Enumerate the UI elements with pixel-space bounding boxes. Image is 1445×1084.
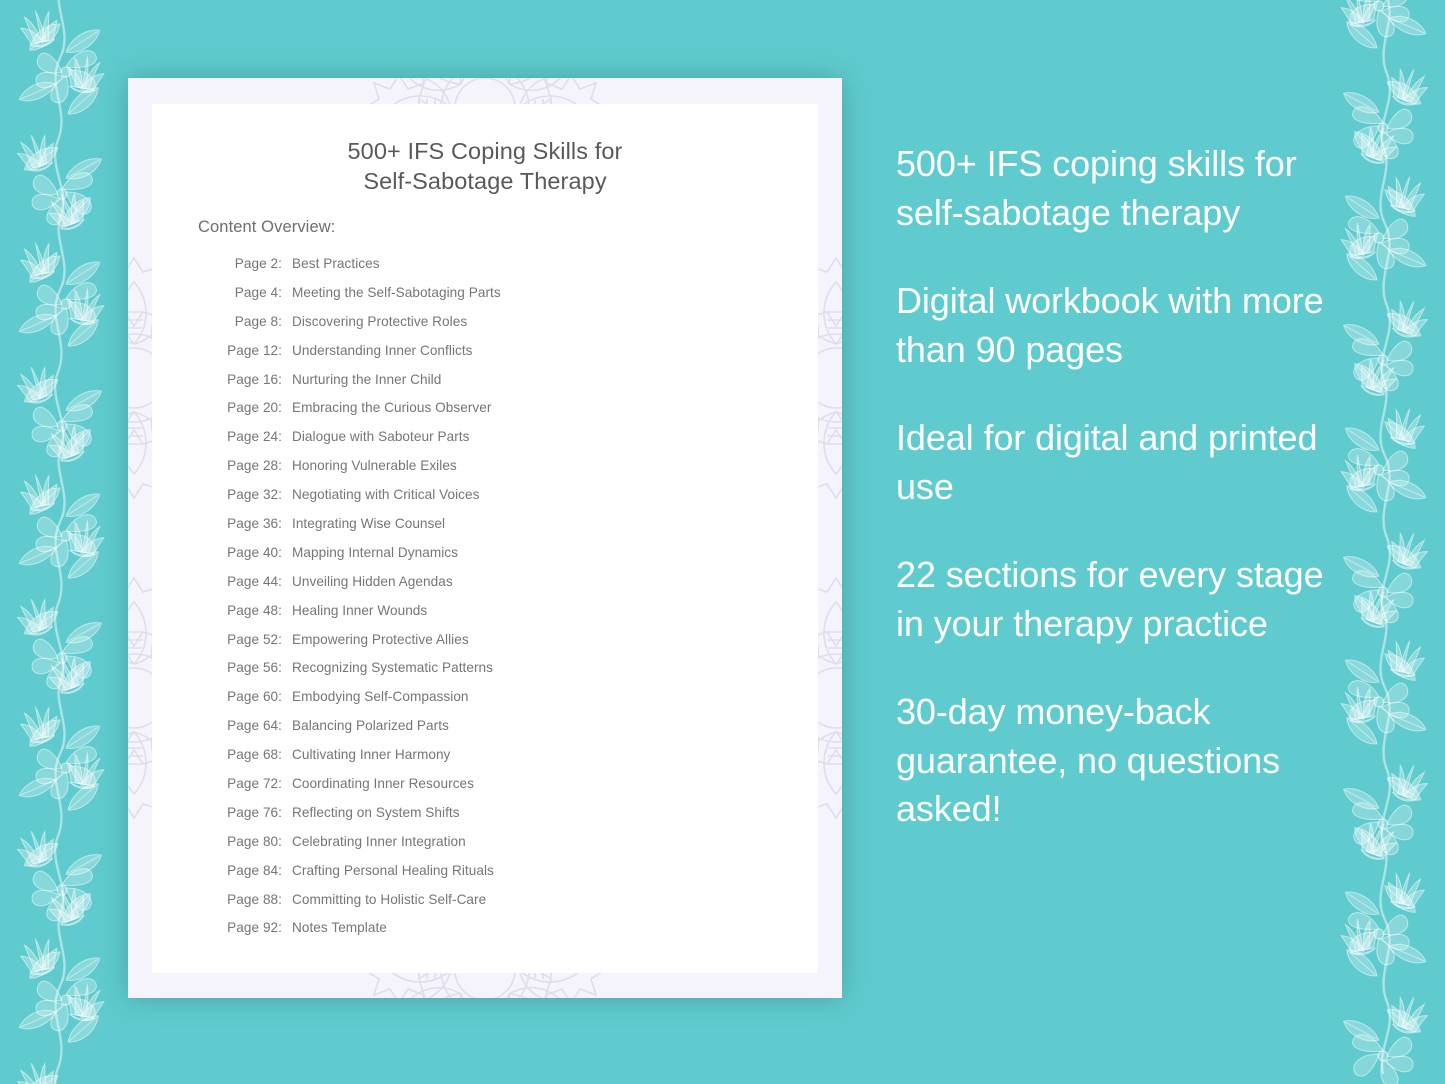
toc-page-number: Page 68: xyxy=(220,747,282,762)
toc-entry: Page 44:Unveiling Hidden Agendas xyxy=(220,574,800,603)
toc-page-number: Page 76: xyxy=(220,805,282,820)
promo-item: Ideal for digital and printed use xyxy=(896,414,1336,511)
toc-page-number: Page 88: xyxy=(220,892,282,907)
toc-entry: Page 28:Honoring Vulnerable Exiles xyxy=(220,458,800,487)
toc-section-title: Nurturing the Inner Child xyxy=(292,372,441,387)
promo-item: 22 sections for every stage in your ther… xyxy=(896,551,1336,648)
toc-section-title: Mapping Internal Dynamics xyxy=(292,545,458,560)
toc-section-title: Coordinating Inner Resources xyxy=(292,776,474,791)
toc-entry: Page 16:Nurturing the Inner Child xyxy=(220,372,800,401)
toc-page-number: Page 80: xyxy=(220,834,282,849)
toc-section-title: Embodying Self-Compassion xyxy=(292,689,469,704)
page-title-line-1: 500+ IFS Coping Skills for xyxy=(152,136,818,166)
toc-entry: Page 80:Celebrating Inner Integration xyxy=(220,834,800,863)
toc-entry: Page 88:Committing to Holistic Self-Care xyxy=(220,892,800,921)
toc-page-number: Page 92: xyxy=(220,920,282,935)
page-title-line-2: Self-Sabotage Therapy xyxy=(152,166,818,196)
toc-entry: Page 2:Best Practices xyxy=(220,256,800,285)
toc-section-title: Integrating Wise Counsel xyxy=(292,516,445,531)
toc-section-title: Healing Inner Wounds xyxy=(292,603,427,618)
toc-page-number: Page 64: xyxy=(220,718,282,733)
toc-section-title: Committing to Holistic Self-Care xyxy=(292,892,486,907)
toc-page-number: Page 20: xyxy=(220,400,282,415)
toc-page-number: Page 48: xyxy=(220,603,282,618)
toc-section-title: Negotiating with Critical Voices xyxy=(292,487,479,502)
table-of-contents: Page 2:Best PracticesPage 4:Meeting the … xyxy=(220,256,800,949)
toc-entry: Page 8:Discovering Protective Roles xyxy=(220,314,800,343)
toc-section-title: Empowering Protective Allies xyxy=(292,632,469,647)
toc-section-title: Dialogue with Saboteur Parts xyxy=(292,429,469,444)
toc-section-title: Cultivating Inner Harmony xyxy=(292,747,450,762)
toc-section-title: Unveiling Hidden Agendas xyxy=(292,574,453,589)
toc-page-number: Page 2: xyxy=(220,256,282,271)
promo-item: 30-day money-back guarantee, no question… xyxy=(896,688,1336,834)
toc-section-title: Balancing Polarized Parts xyxy=(292,718,449,733)
toc-section-title: Best Practices xyxy=(292,256,380,271)
toc-entry: Page 20:Embracing the Curious Observer xyxy=(220,400,800,429)
toc-section-title: Understanding Inner Conflicts xyxy=(292,343,473,358)
toc-entry: Page 56:Recognizing Systematic Patterns xyxy=(220,660,800,689)
toc-section-title: Honoring Vulnerable Exiles xyxy=(292,458,457,473)
toc-page-number: Page 8: xyxy=(220,314,282,329)
toc-entry: Page 64:Balancing Polarized Parts xyxy=(220,718,800,747)
toc-page-number: Page 32: xyxy=(220,487,282,502)
toc-entry: Page 84:Crafting Personal Healing Ritual… xyxy=(220,863,800,892)
toc-page-number: Page 24: xyxy=(220,429,282,444)
toc-page-number: Page 52: xyxy=(220,632,282,647)
toc-page-number: Page 28: xyxy=(220,458,282,473)
toc-page-number: Page 44: xyxy=(220,574,282,589)
toc-section-title: Reflecting on System Shifts xyxy=(292,805,460,820)
document-page: 500+ IFS Coping Skills for Self-Sabotage… xyxy=(152,104,818,973)
toc-section-title: Crafting Personal Healing Rituals xyxy=(292,863,494,878)
toc-entry: Page 4:Meeting the Self-Sabotaging Parts xyxy=(220,285,800,314)
toc-section-title: Recognizing Systematic Patterns xyxy=(292,660,493,675)
document-card: 500+ IFS Coping Skills for Self-Sabotage… xyxy=(128,78,842,998)
left-floral-border xyxy=(0,0,130,1084)
toc-entry: Page 72:Coordinating Inner Resources xyxy=(220,776,800,805)
toc-entry: Page 32:Negotiating with Critical Voices xyxy=(220,487,800,516)
promo-list: 500+ IFS coping skills for self-sabotage… xyxy=(896,140,1336,834)
toc-page-number: Page 60: xyxy=(220,689,282,704)
floral-vine-icon xyxy=(0,0,130,1084)
promo-item: 500+ IFS coping skills for self-sabotage… xyxy=(896,140,1336,237)
content-overview-label: Content Overview: xyxy=(198,218,335,237)
toc-page-number: Page 40: xyxy=(220,545,282,560)
toc-section-title: Embracing the Curious Observer xyxy=(292,400,491,415)
toc-section-title: Notes Template xyxy=(292,920,387,935)
toc-page-number: Page 72: xyxy=(220,776,282,791)
page-title: 500+ IFS Coping Skills for Self-Sabotage… xyxy=(152,136,818,196)
toc-entry: Page 76:Reflecting on System Shifts xyxy=(220,805,800,834)
toc-entry: Page 40:Mapping Internal Dynamics xyxy=(220,545,800,574)
toc-section-title: Celebrating Inner Integration xyxy=(292,834,466,849)
toc-entry: Page 36:Integrating Wise Counsel xyxy=(220,516,800,545)
toc-section-title: Discovering Protective Roles xyxy=(292,314,467,329)
promo-item: Digital workbook with more than 90 pages xyxy=(896,277,1336,374)
toc-page-number: Page 12: xyxy=(220,343,282,358)
toc-entry: Page 68:Cultivating Inner Harmony xyxy=(220,747,800,776)
toc-entry: Page 92:Notes Template xyxy=(220,920,800,949)
toc-entry: Page 48:Healing Inner Wounds xyxy=(220,603,800,632)
toc-page-number: Page 84: xyxy=(220,863,282,878)
toc-entry: Page 12:Understanding Inner Conflicts xyxy=(220,343,800,372)
toc-page-number: Page 36: xyxy=(220,516,282,531)
toc-entry: Page 24:Dialogue with Saboteur Parts xyxy=(220,429,800,458)
toc-page-number: Page 56: xyxy=(220,660,282,675)
toc-page-number: Page 4: xyxy=(220,285,282,300)
toc-entry: Page 52:Empowering Protective Allies xyxy=(220,632,800,661)
toc-page-number: Page 16: xyxy=(220,372,282,387)
toc-section-title: Meeting the Self-Sabotaging Parts xyxy=(292,285,501,300)
toc-entry: Page 60:Embodying Self-Compassion xyxy=(220,689,800,718)
